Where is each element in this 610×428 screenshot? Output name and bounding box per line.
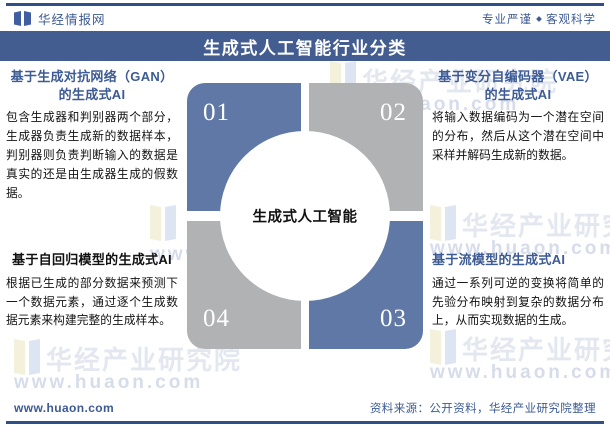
title-band: 生成式人工智能行业分类 (0, 31, 610, 61)
slogan-left: 专业严谨 (482, 11, 532, 27)
footer-website-link[interactable]: www.huaon.com (14, 401, 114, 415)
quadrant-diagram: 01 02 03 04 生成式人工智能 (187, 83, 423, 349)
quadrant-number: 02 (380, 99, 407, 127)
infographic-page: 华经产业研究院 www.huaon.com 华经产业研究院 www.huaon.… (0, 0, 610, 428)
page-header: 华经情报网 专业严谨 客观科学 (0, 6, 610, 31)
bottom-divider (6, 421, 604, 424)
card-title: 基于流模型的生成式AI (432, 251, 604, 269)
card-body: 通过一系列可逆的变换将简单的先验分布映射到复杂的数据分布上，从而实现数据的生成。 (432, 275, 604, 332)
slogan-right: 客观科学 (546, 11, 596, 27)
footer-source-note: 资料来源：公开资料，华经产业研究院整理 (370, 400, 596, 416)
slogan: 专业严谨 客观科学 (482, 11, 596, 27)
diagram-center-label: 生成式人工智能 (253, 206, 358, 227)
brand-name: 华经情报网 (38, 9, 106, 28)
main-content: 基于生成对抗网络（GAN）的生成式AI 包含生成器和判别器两个部分，生成器负责生… (0, 61, 610, 392)
quadrant-number: 01 (203, 99, 230, 127)
card-title: 基于自回归模型的生成式AI (6, 251, 178, 269)
brand: 华经情报网 (14, 9, 106, 28)
card-body: 根据已生成的部分数据来预测下一个数据元素，通过逐个生成数据元素来构建完整的生成样… (6, 275, 178, 332)
card-title: 基于变分自编码器（VAE）的生成式AI (432, 68, 604, 103)
card-title: 基于生成对抗网络（GAN）的生成式AI (6, 68, 178, 103)
card-autoregressive: 基于自回归模型的生成式AI 根据已生成的部分数据来预测下一个数据元素，通过逐个生… (6, 251, 178, 331)
quadrant-number: 04 (203, 305, 230, 333)
card-gan: 基于生成对抗网络（GAN）的生成式AI 包含生成器和判别器两个部分，生成器负责生… (6, 68, 178, 204)
quadrant-number: 03 (380, 305, 407, 333)
page-footer: www.huaon.com 资料来源：公开资料，华经产业研究院整理 (0, 395, 610, 428)
diamond-separator-icon (536, 16, 542, 22)
card-body: 包含生成器和判别器两个部分，生成器负责生成新的数据样本，判别器则负责判断输入的数… (6, 109, 178, 204)
card-body: 将输入数据编码为一个潜在空间的分布，然后从这个潜在空间中采样并解码生成新的数据。 (432, 109, 604, 166)
card-flow: 基于流模型的生成式AI 通过一系列可逆的变换将简单的先验分布映射到复杂的数据分布… (432, 251, 604, 331)
open-book-icon (14, 11, 31, 26)
page-title: 生成式人工智能行业分类 (203, 34, 407, 59)
card-vae: 基于变分自编码器（VAE）的生成式AI 将输入数据编码为一个潜在空间的分布，然后… (432, 68, 604, 166)
